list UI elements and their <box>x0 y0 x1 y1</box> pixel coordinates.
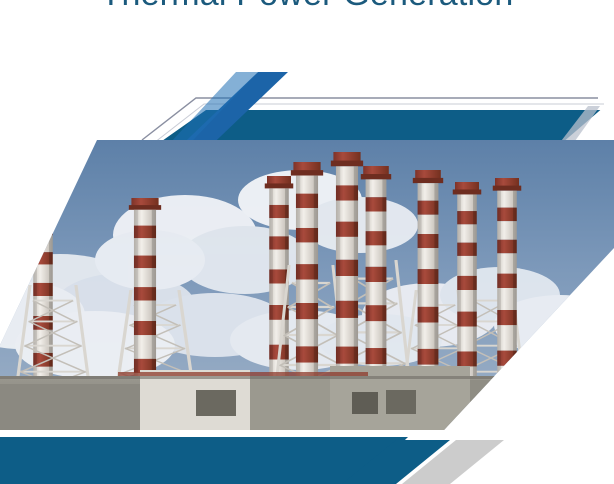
thermal-power-plant-photo <box>0 140 614 430</box>
cover-slide: Thermal Power Generation <box>0 0 614 484</box>
footer-blue-block <box>0 437 408 484</box>
footer-graphic <box>0 430 614 484</box>
page-title: Thermal Power Generation <box>0 0 614 14</box>
footer-decoration <box>0 430 614 484</box>
photo-frame <box>0 140 614 430</box>
